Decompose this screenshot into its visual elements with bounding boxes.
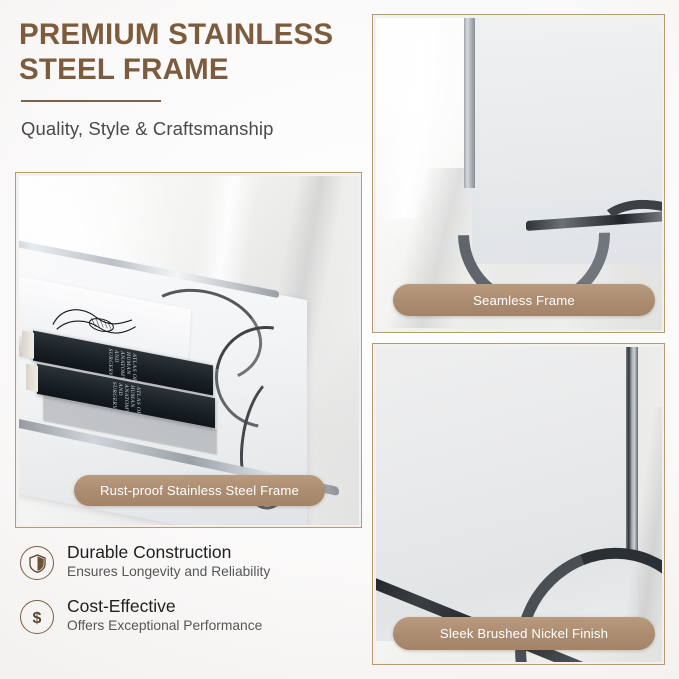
feature-item-cost-effective: $ Cost-Effective Offers Exceptional Perf… bbox=[20, 596, 370, 635]
shield-icon bbox=[20, 546, 54, 580]
feature-text-block: Cost-Effective Offers Exceptional Perfor… bbox=[67, 596, 262, 635]
bottom-photo-inner bbox=[376, 347, 662, 662]
cover-band-left: COR bbox=[19, 335, 21, 352]
dollar-icon: $ bbox=[20, 600, 54, 634]
page-title: PREMIUM STAINLESS STEEL FRAME bbox=[19, 18, 364, 87]
caption-pill-rust-proof: Rust-proof Stainless Steel Frame bbox=[74, 475, 325, 506]
feature-text-block: Durable Construction Ensures Longevity a… bbox=[67, 542, 270, 581]
brushed-nickel-vertical-edge bbox=[626, 347, 638, 559]
page-subtitle: Quality, Style & Craftsmanship bbox=[21, 118, 364, 140]
book-pages bbox=[22, 330, 34, 358]
book-pages bbox=[26, 363, 38, 391]
caption-pill-seamless-frame: Seamless Frame bbox=[393, 284, 655, 316]
shield-glyph bbox=[29, 554, 46, 573]
header-block: PREMIUM STAINLESS STEEL FRAME Quality, S… bbox=[19, 18, 364, 140]
dollar-glyph: $ bbox=[28, 607, 46, 627]
main-photo-inner: NEW DECORATION COR ALL-AMERICAN FLAIR bbox=[19, 176, 359, 525]
feature-item-durable-construction: Durable Construction Ensures Longevity a… bbox=[20, 542, 370, 581]
feature-subtext: Offers Exceptional Performance bbox=[67, 618, 262, 635]
top-photo-inner bbox=[376, 18, 662, 330]
title-divider bbox=[21, 100, 161, 102]
product-feature-infographic: PREMIUM STAINLESS STEEL FRAME Quality, S… bbox=[0, 0, 679, 679]
feature-subtext: Ensures Longevity and Reliability bbox=[67, 564, 270, 581]
svg-text:$: $ bbox=[33, 610, 42, 627]
mirror-vertical-frame-edge bbox=[464, 18, 475, 188]
feature-heading: Durable Construction bbox=[67, 542, 270, 562]
caption-pill-brushed-nickel: Sleek Brushed Nickel Finish bbox=[393, 617, 655, 650]
feature-heading: Cost-Effective bbox=[67, 596, 262, 616]
feature-list: Durable Construction Ensures Longevity a… bbox=[20, 542, 370, 649]
